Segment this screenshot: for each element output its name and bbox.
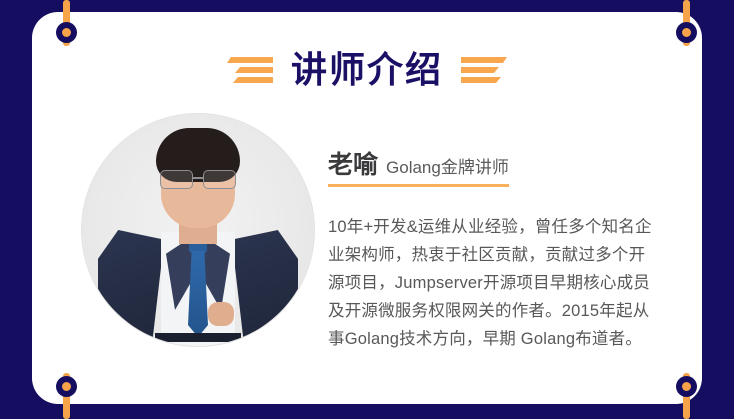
instructor-portrait bbox=[82, 114, 314, 346]
pin-core bbox=[62, 382, 71, 391]
glasses-lens-left bbox=[160, 170, 193, 189]
portrait-image bbox=[82, 114, 314, 346]
bio-line: 事Golang技术方向，早期 Golang布道者。 bbox=[328, 325, 700, 353]
pin-core bbox=[682, 382, 691, 391]
portrait-hand bbox=[208, 302, 234, 326]
pin-core bbox=[62, 28, 71, 37]
instructor-title: Golang金牌讲师 bbox=[386, 159, 509, 178]
decoration-bar bbox=[461, 77, 501, 83]
pin-bottom-right-icon bbox=[673, 373, 699, 419]
portrait-tie bbox=[188, 251, 208, 337]
bio-line: 源项目，Jumpserver开源项目早期核心成员 bbox=[328, 269, 700, 297]
bio-line: 业架构师，热衷于社区贡献，贡献过多个开 bbox=[328, 241, 700, 269]
page-title-row: 讲师介绍 bbox=[0, 44, 734, 96]
instructor-intro-poster: 讲师介绍 bbox=[0, 0, 734, 419]
decoration-bar bbox=[227, 57, 273, 63]
decoration-bar bbox=[235, 67, 273, 73]
pin-top-right-icon bbox=[673, 0, 699, 46]
instructor-bio: 10年+开发&运维从业经验，曾任多个知名企 业架构师，热衷于社区贡献，贡献过多个… bbox=[328, 213, 700, 353]
decoration-bar bbox=[233, 77, 273, 83]
portrait-belt bbox=[155, 333, 241, 342]
instructor-name: 老喻 bbox=[328, 152, 378, 180]
glasses-lens-right bbox=[203, 170, 236, 189]
pin-top-left-icon bbox=[53, 0, 79, 46]
glasses-icon bbox=[158, 170, 238, 188]
decoration-bar bbox=[461, 57, 507, 63]
decoration-bar bbox=[461, 67, 499, 73]
pin-core bbox=[682, 28, 691, 37]
title-decoration-right-icon bbox=[461, 57, 507, 83]
pin-bottom-left-icon bbox=[53, 373, 79, 419]
page-title: 讲师介绍 bbox=[291, 52, 443, 88]
bio-line: 及开源微服务权限网关的作者。2015年起从 bbox=[328, 297, 700, 325]
title-decoration-left-icon bbox=[227, 57, 273, 83]
instructor-name-row: 老喻 Golang金牌讲师 bbox=[328, 152, 509, 187]
bio-line: 10年+开发&运维从业经验，曾任多个知名企 bbox=[328, 213, 700, 241]
instructor-info: 老喻 Golang金牌讲师 10年+开发&运维从业经验，曾任多个知名企 业架构师… bbox=[328, 152, 700, 353]
